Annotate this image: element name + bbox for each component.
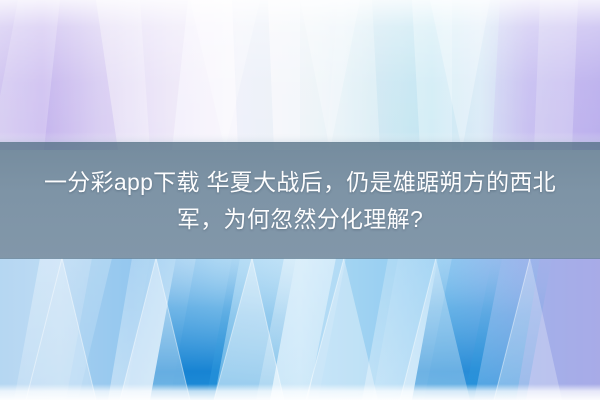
bottom-half-group bbox=[0, 258, 600, 400]
banner-image: 一分彩app下载 华夏大战后，仍是雄踞朔方的西北军，为何忽然分化理解? bbox=[0, 0, 600, 400]
top-half-group bbox=[0, 0, 600, 150]
title-band: 一分彩app下载 华夏大战后，仍是雄踞朔方的西北军，为何忽然分化理解? bbox=[0, 142, 600, 259]
title-line-1: 一分彩app下载 华夏大战后，仍是雄踞朔方的 bbox=[44, 169, 509, 195]
banner-title: 一分彩app下载 华夏大战后，仍是雄踞朔方的西北军，为何忽然分化理解? bbox=[30, 164, 570, 238]
